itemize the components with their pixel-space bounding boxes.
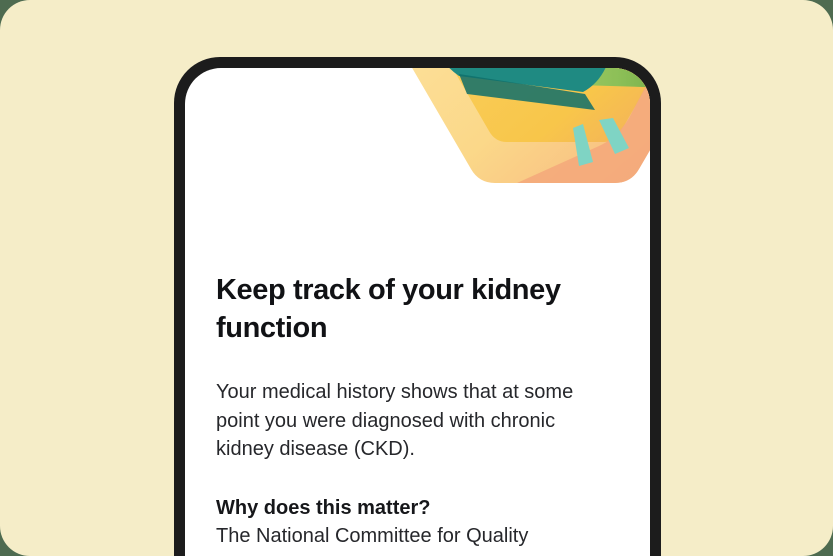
why-this-matters-block: Why does this matter? The National Commi…	[216, 494, 606, 550]
card-description: Your medical history shows that at some …	[216, 378, 596, 463]
phone-screen: Keep track of your kidney function Your …	[185, 68, 650, 556]
page-background: Keep track of your kidney function Your …	[0, 0, 833, 556]
card-content: Keep track of your kidney function Your …	[216, 272, 636, 550]
binoculars-badge-illustration	[367, 68, 650, 266]
phone-device-frame: Keep track of your kidney function Your …	[174, 57, 661, 556]
why-this-matters-text: The National Committee for Quality	[216, 522, 606, 550]
why-this-matters-heading: Why does this matter?	[216, 494, 606, 522]
page-title: Keep track of your kidney function	[216, 272, 596, 347]
